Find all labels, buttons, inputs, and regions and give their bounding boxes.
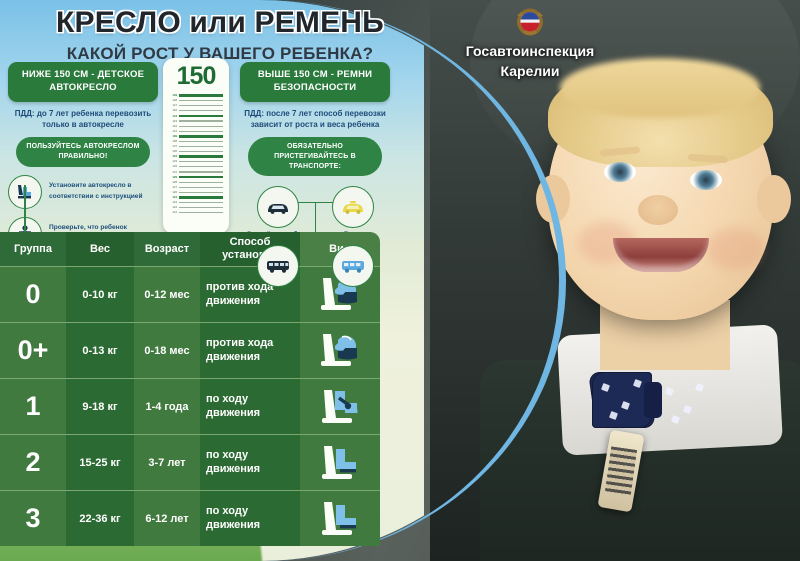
ruler-tick-bar <box>179 126 223 127</box>
ruler-tick-label: 139 <box>169 135 177 138</box>
table-row: 00-10 кг0-12 меспротив хода движения <box>0 266 380 322</box>
ruler-tick-bar <box>179 131 223 132</box>
cell-group: 1 <box>0 379 66 434</box>
ruler-tick-label: 141 <box>169 130 177 133</box>
table-header-weight: Вес <box>66 232 134 266</box>
ruler-tick-bar <box>179 212 223 213</box>
ruler-tick-label: 137 <box>169 145 177 148</box>
left-box-heading: НИЖЕ 150 СМ - ДЕТСКОЕ АВТОКРЕСЛО <box>8 62 158 102</box>
ruler-tick-bar <box>179 105 223 106</box>
cell-install: по ходу движения <box>200 379 300 434</box>
ruler-tick-label: 133 <box>169 160 177 163</box>
ruler-tick-label: 147 <box>169 104 177 107</box>
poster-title: КРЕСЛО или РЕМЕНЬ <box>30 6 410 40</box>
cell-install: по ходу движения <box>200 435 300 490</box>
table-header-group: Группа <box>0 232 66 266</box>
left-box-pill: ПОЛЬЗУЙТЕСЬ АВТОКРЕСЛОМ ПРАВИЛЬНО! <box>16 137 150 167</box>
cell-weight: 22-36 кг <box>66 491 134 546</box>
ruler-tick-bar <box>179 161 223 162</box>
ruler-tick-label: 132 <box>169 165 177 168</box>
ruler-tick-bar <box>179 120 223 121</box>
gibdd-emblem <box>513 6 547 40</box>
ruler-tick-label: 122 <box>169 206 177 209</box>
ruler-tick-bar <box>179 207 223 208</box>
ruler-tick-bar <box>179 146 223 147</box>
ruler-tick-bar <box>179 155 223 158</box>
ruler-value: 150 <box>163 62 229 91</box>
cell-view <box>300 323 380 378</box>
ruler-tick-bar <box>179 166 223 167</box>
cell-age: 6-12 лет <box>134 491 200 546</box>
height-ruler: 150 149148147146144143142141139138137136… <box>163 58 229 234</box>
page-title: КРЕСЛО или РЕМЕНЬ КАКОЙ РОСТ У ВАШЕГО РЕ… <box>30 6 410 64</box>
ruler-tick-label: 127 <box>169 186 177 189</box>
ruler-tick-label: 131 <box>169 171 177 174</box>
booster-seat-icon <box>312 442 368 484</box>
private-car-icon <box>257 186 299 228</box>
ruler-tick: 121 <box>169 210 223 215</box>
cell-group: 0+ <box>0 323 66 378</box>
cell-group: 2 <box>0 435 66 490</box>
cell-install: против хода движения <box>200 323 300 378</box>
ruler-ticks: 1491481471461441431421411391381371361341… <box>163 93 229 215</box>
ruler-tick-label: 121 <box>169 211 177 214</box>
rear-facing-seat-icon <box>312 330 368 372</box>
ruler-tick-bar <box>179 94 223 97</box>
cell-weight: 9-18 кг <box>66 379 134 434</box>
rule-item-1: Установите автокресло в соответствии с и… <box>8 175 158 209</box>
ruler-tick-label: 136 <box>169 150 177 153</box>
ruler-tick-bar <box>179 171 223 172</box>
cell-age: 0-18 мес <box>134 323 200 378</box>
ruler-tick-label: 124 <box>169 196 177 199</box>
ruler-tick-label: 126 <box>169 191 177 194</box>
ruler-tick-bar <box>179 187 223 188</box>
ruler-tick-label: 148 <box>169 99 177 102</box>
rule-text-1: Установите автокресло в соответствии с и… <box>49 181 158 201</box>
booster-seat-icon <box>312 498 368 540</box>
child-eye-right <box>690 170 722 190</box>
cell-weight: 0-10 кг <box>66 267 134 322</box>
coach-bus-icon <box>332 245 374 287</box>
forward-facing-seat-icon <box>312 386 368 428</box>
cell-install: по ходу движения <box>200 491 300 546</box>
cell-view <box>300 491 380 546</box>
ruler-tick-label: 149 <box>169 94 177 97</box>
right-box-pill: ОБЯЗАТЕЛЬНО ПРИСТЕГИВАЙТЕСЬ В ТРАНСПОРТЕ… <box>248 137 382 176</box>
child-eye-left <box>604 162 636 182</box>
cell-age: 1-4 года <box>134 379 200 434</box>
star-bow-tie <box>592 372 712 428</box>
tour-bus-icon <box>257 245 299 287</box>
cell-weight: 0-13 кг <box>66 323 134 378</box>
ruler-tick-bar <box>179 110 223 111</box>
table-body: 00-10 кг0-12 меспротив хода движения0+0-… <box>0 266 380 546</box>
cell-view <box>300 435 380 490</box>
ruler-tick-bar <box>179 176 223 179</box>
left-box-note: ПДД: до 7 лет ребенка перевозить только … <box>8 108 158 130</box>
car-seat-groups-table: Группа Вес Возраст Способ установки Вид … <box>0 232 380 546</box>
ruler-tick-label: 128 <box>169 181 177 184</box>
ruler-tick-bar <box>179 192 223 193</box>
child-nose <box>638 195 678 225</box>
table-row: 0+0-13 кг0-18 меспротив хода движения <box>0 322 380 378</box>
ruler-tick-label: 146 <box>169 109 177 112</box>
child-cheek-right <box>706 228 764 270</box>
cell-group: 0 <box>0 267 66 322</box>
ruler-tick-label: 134 <box>169 155 177 158</box>
ruler-tick-bar <box>179 141 223 142</box>
agency-name-line2: Карелии <box>440 63 620 80</box>
ruler-tick-label: 138 <box>169 140 177 143</box>
right-box-note: ПДД: после 7 лет способ перевозки зависи… <box>240 108 390 130</box>
ruler-tick-label: 144 <box>169 115 177 118</box>
ruler-tick-label: 143 <box>169 120 177 123</box>
ruler-tick-label: 142 <box>169 125 177 128</box>
table-header-age: Возраст <box>134 232 200 266</box>
child-ear-right <box>757 175 791 223</box>
ruler-tick-bar <box>179 196 223 199</box>
table-row: 19-18 кг1-4 годапо ходу движения <box>0 378 380 434</box>
cell-view <box>300 379 380 434</box>
table-row: 322-36 кг6-12 летпо ходу движения <box>0 490 380 546</box>
agency-logo: Госавтоинспекция Карелии <box>440 6 620 80</box>
cell-age: 3-7 лет <box>134 435 200 490</box>
ruler-tick-bar <box>179 100 223 101</box>
table-row: 215-25 кг3-7 летпо ходу движения <box>0 434 380 490</box>
ruler-tick-label: 129 <box>169 176 177 179</box>
cell-age: 0-12 мес <box>134 267 200 322</box>
agency-name-line1: Госавтоинспекция <box>440 43 620 60</box>
ruler-tick-label: 123 <box>169 201 177 204</box>
taxi-icon <box>332 186 374 228</box>
cell-weight: 15-25 кг <box>66 435 134 490</box>
cell-group: 3 <box>0 491 66 546</box>
right-box-heading: ВЫШЕ 150 СМ - РЕМНИ БЕЗОПАСНОСТИ <box>240 62 390 102</box>
ruler-tick-bar <box>179 202 223 203</box>
ruler-tick-bar <box>179 182 223 183</box>
table-header-row: Группа Вес Возраст Способ установки Вид <box>0 232 380 266</box>
ruler-tick-bar <box>179 115 223 118</box>
ruler-tick-bar <box>179 151 223 152</box>
poster-root: КРЕСЛО или РЕМЕНЬ КАКОЙ РОСТ У ВАШЕГО РЕ… <box>0 0 800 561</box>
ruler-tick-bar <box>179 135 223 138</box>
